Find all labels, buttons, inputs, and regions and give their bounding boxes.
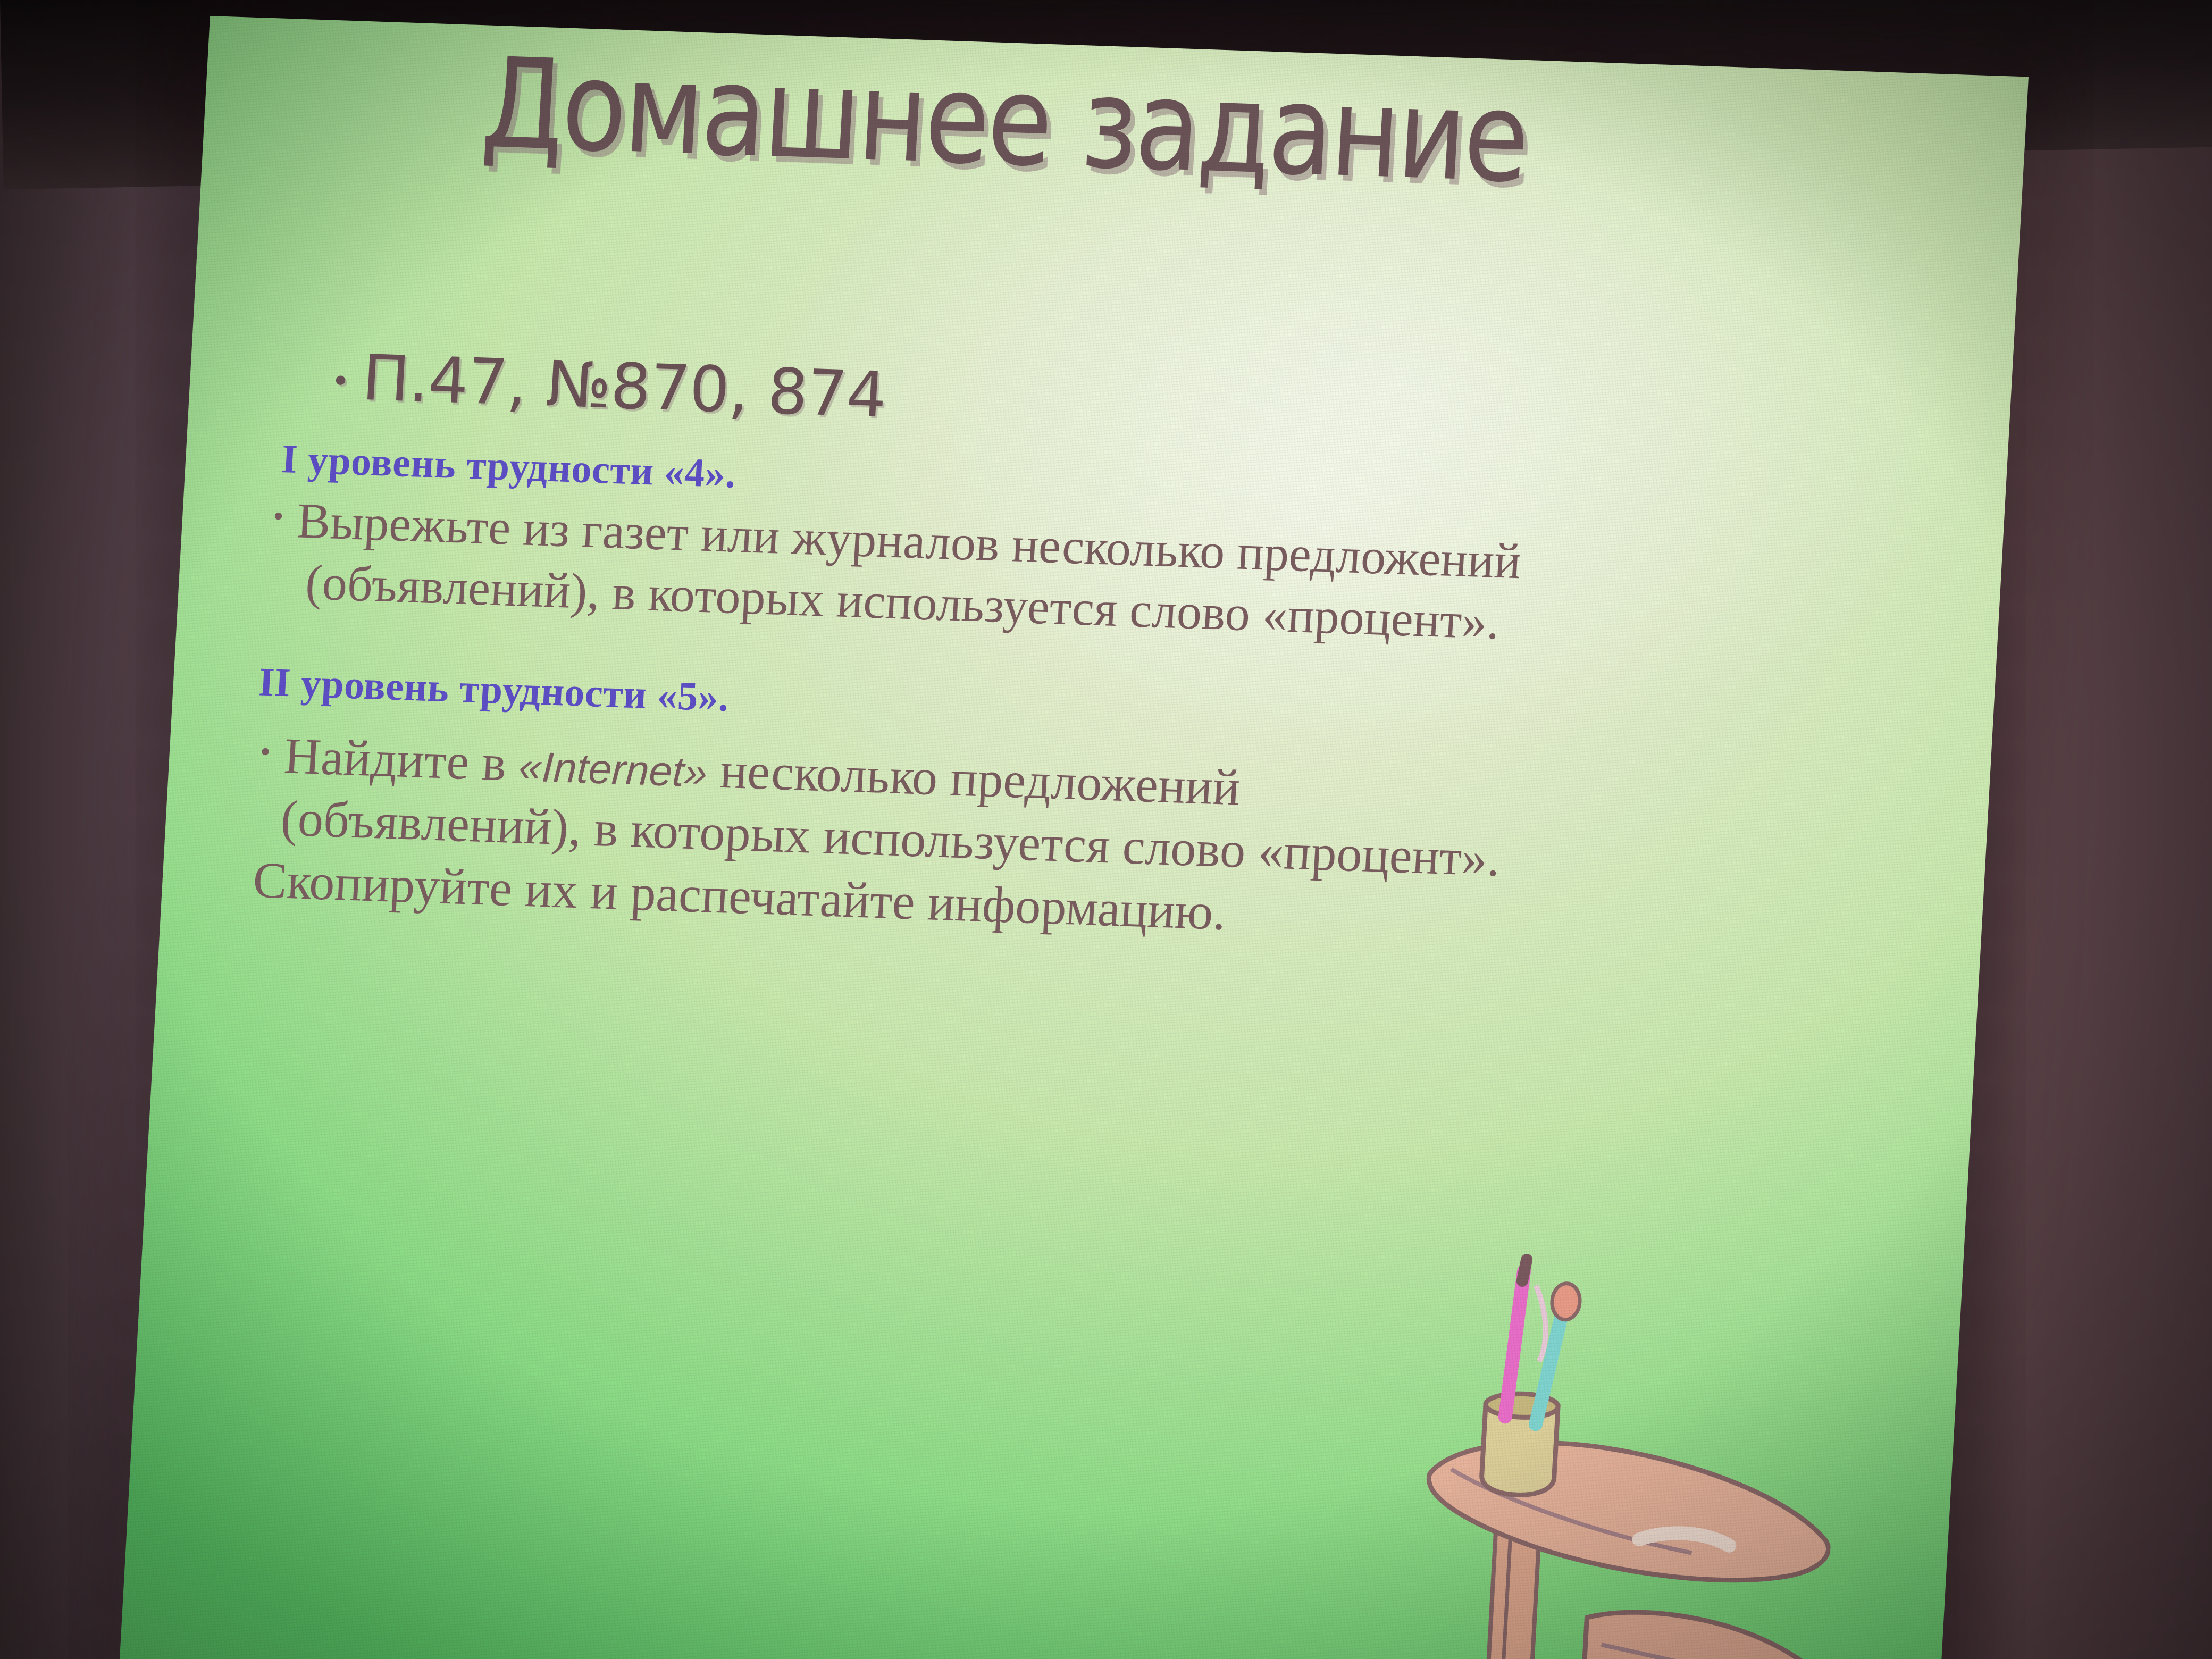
projection-screen: Домашнее задание •П.47, №870, 874 I уров… <box>0 0 2212 1659</box>
internet-term: «Internet» <box>517 743 708 796</box>
level-2-task: •Найдите в «Internet» несколько предложе… <box>252 724 1953 967</box>
slide-body: •П.47, №870, 874 I уровень трудности «4»… <box>252 338 1974 967</box>
assignment-text: П.47, №870, 874 <box>361 341 888 432</box>
presentation-slide: Домашнее задание •П.47, №870, 874 I уров… <box>116 16 2029 1659</box>
bullet-icon: • <box>330 363 350 400</box>
page-title: Домашнее задание <box>478 30 1531 210</box>
level-2-line-1-pre: Найдите в <box>283 727 521 792</box>
room-photograph: Домашнее задание •П.47, №870, 874 I уров… <box>0 0 2212 1659</box>
bullet-icon: • <box>259 735 271 769</box>
bullet-icon: • <box>272 500 284 533</box>
desk-with-pencil-cup-icon <box>1405 1245 1847 1659</box>
